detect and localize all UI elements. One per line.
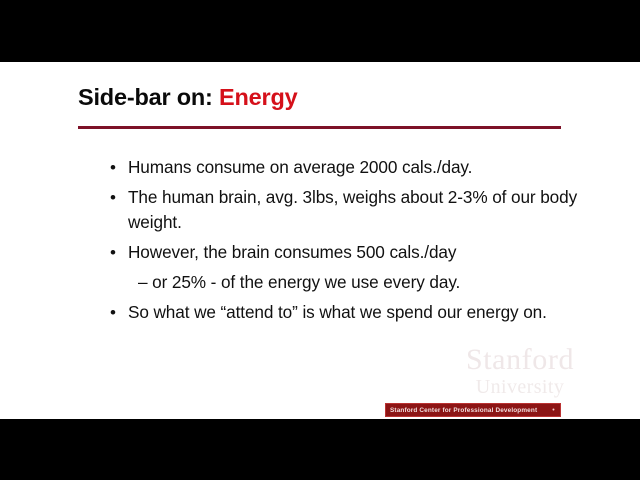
bullet-marker-icon: • — [110, 300, 128, 325]
list-item-label: Humans consume on average 2000 cals./day… — [128, 155, 580, 180]
watermark-university-text: University — [430, 376, 610, 399]
slide-title-block: Side-bar on: Energy — [78, 84, 568, 111]
list-item: • However, the brain consumes 500 cals./… — [110, 240, 580, 265]
stanford-watermark-logo: Stanford University — [430, 344, 610, 399]
letterbox-bar-bottom — [0, 419, 640, 480]
list-item-label: However, the brain consumes 500 cals./da… — [128, 240, 580, 265]
scpd-banner: Stanford Center for Professional Develop… — [385, 403, 561, 417]
watermark-stanford-text: Stanford — [430, 344, 610, 376]
list-item-sub-label: – or 25% - of the energy we use every da… — [138, 270, 580, 295]
list-item: • Humans consume on average 2000 cals./d… — [110, 155, 580, 180]
bullet-marker-icon: • — [110, 240, 128, 265]
title-underline-rule — [78, 126, 561, 129]
slide-title-accent: Energy — [219, 84, 297, 110]
page-title: Side-bar on: Energy — [78, 84, 568, 111]
list-item-label: So what we “attend to” is what we spend … — [128, 300, 580, 325]
slide-bullet-list: • Humans consume on average 2000 cals./d… — [110, 155, 580, 330]
list-item: • The human brain, avg. 3lbs, weighs abo… — [110, 185, 580, 235]
presentation-slide: Side-bar on: Energy • Humans consume on … — [0, 62, 640, 419]
slide-title-prefix: Side-bar on: — [78, 84, 213, 110]
bullet-marker-icon: • — [110, 185, 128, 210]
scpd-banner-label: Stanford Center for Professional Develop… — [390, 407, 550, 414]
bullet-marker-icon: • — [110, 155, 128, 180]
scpd-banner-dot-icon: • — [550, 407, 557, 414]
list-item-label: The human brain, avg. 3lbs, weighs about… — [128, 185, 580, 235]
video-player-viewport: Side-bar on: Energy • Humans consume on … — [0, 0, 640, 480]
letterbox-bar-top — [0, 0, 640, 62]
list-item: • So what we “attend to” is what we spen… — [110, 300, 580, 325]
